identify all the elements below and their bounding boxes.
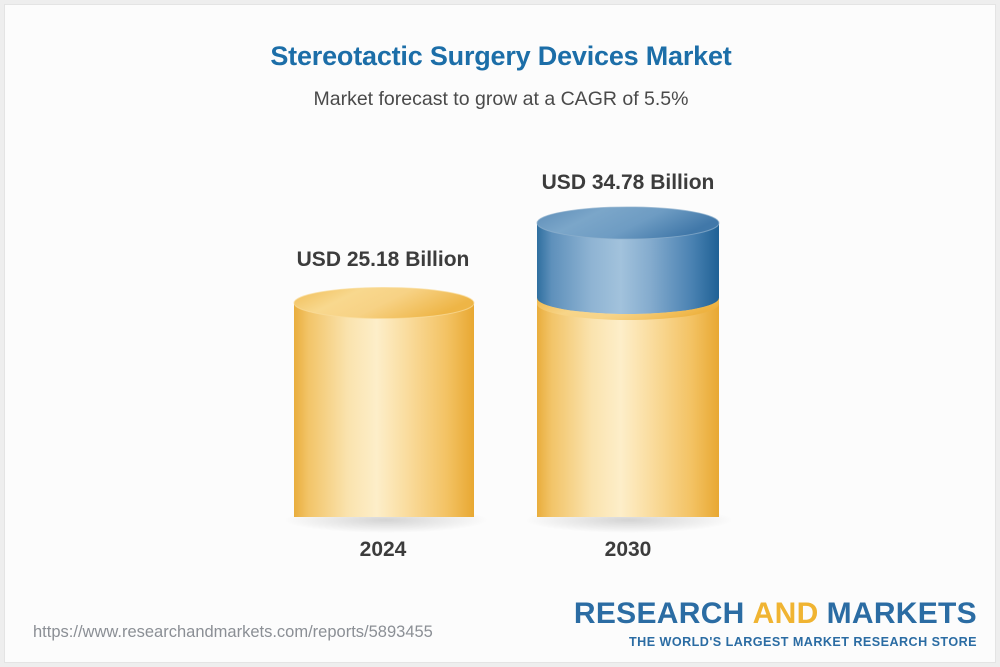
brand-word-markets: MARKETS bbox=[827, 597, 977, 630]
source-url[interactable]: https://www.researchandmarkets.com/repor… bbox=[33, 623, 433, 642]
bar-cylinder-2024-svg bbox=[286, 280, 486, 530]
x-axis-label-2024: 2024 bbox=[293, 538, 473, 562]
bar-body-yellow-2030 bbox=[537, 298, 719, 517]
bar-cylinder-2024[interactable] bbox=[286, 280, 486, 530]
x-axis-label-2030: 2030 bbox=[537, 538, 719, 562]
bar-cylinder-2030[interactable] bbox=[529, 200, 734, 530]
brand-logo-wordmark: RESEARCHANDMARKETS bbox=[574, 599, 977, 629]
brand-tagline: THE WORLD'S LARGEST MARKET RESEARCH STOR… bbox=[574, 636, 977, 649]
chart-plot-area: USD 25.18 Billion USD 34.78 Billion 2024… bbox=[5, 5, 996, 663]
brand-word-research: RESEARCH bbox=[574, 597, 745, 630]
brand-word-and: AND bbox=[753, 597, 819, 630]
bar-cylinder-2030-svg bbox=[529, 200, 734, 530]
value-label-2024: USD 25.18 Billion bbox=[273, 248, 493, 272]
brand-logo[interactable]: RESEARCHANDMARKETS THE WORLD'S LARGEST M… bbox=[574, 599, 977, 649]
value-label-2030: USD 34.78 Billion bbox=[518, 171, 738, 195]
infographic-card: Stereotactic Surgery Devices Market Mark… bbox=[4, 4, 996, 663]
bar-body-2024 bbox=[294, 303, 474, 517]
